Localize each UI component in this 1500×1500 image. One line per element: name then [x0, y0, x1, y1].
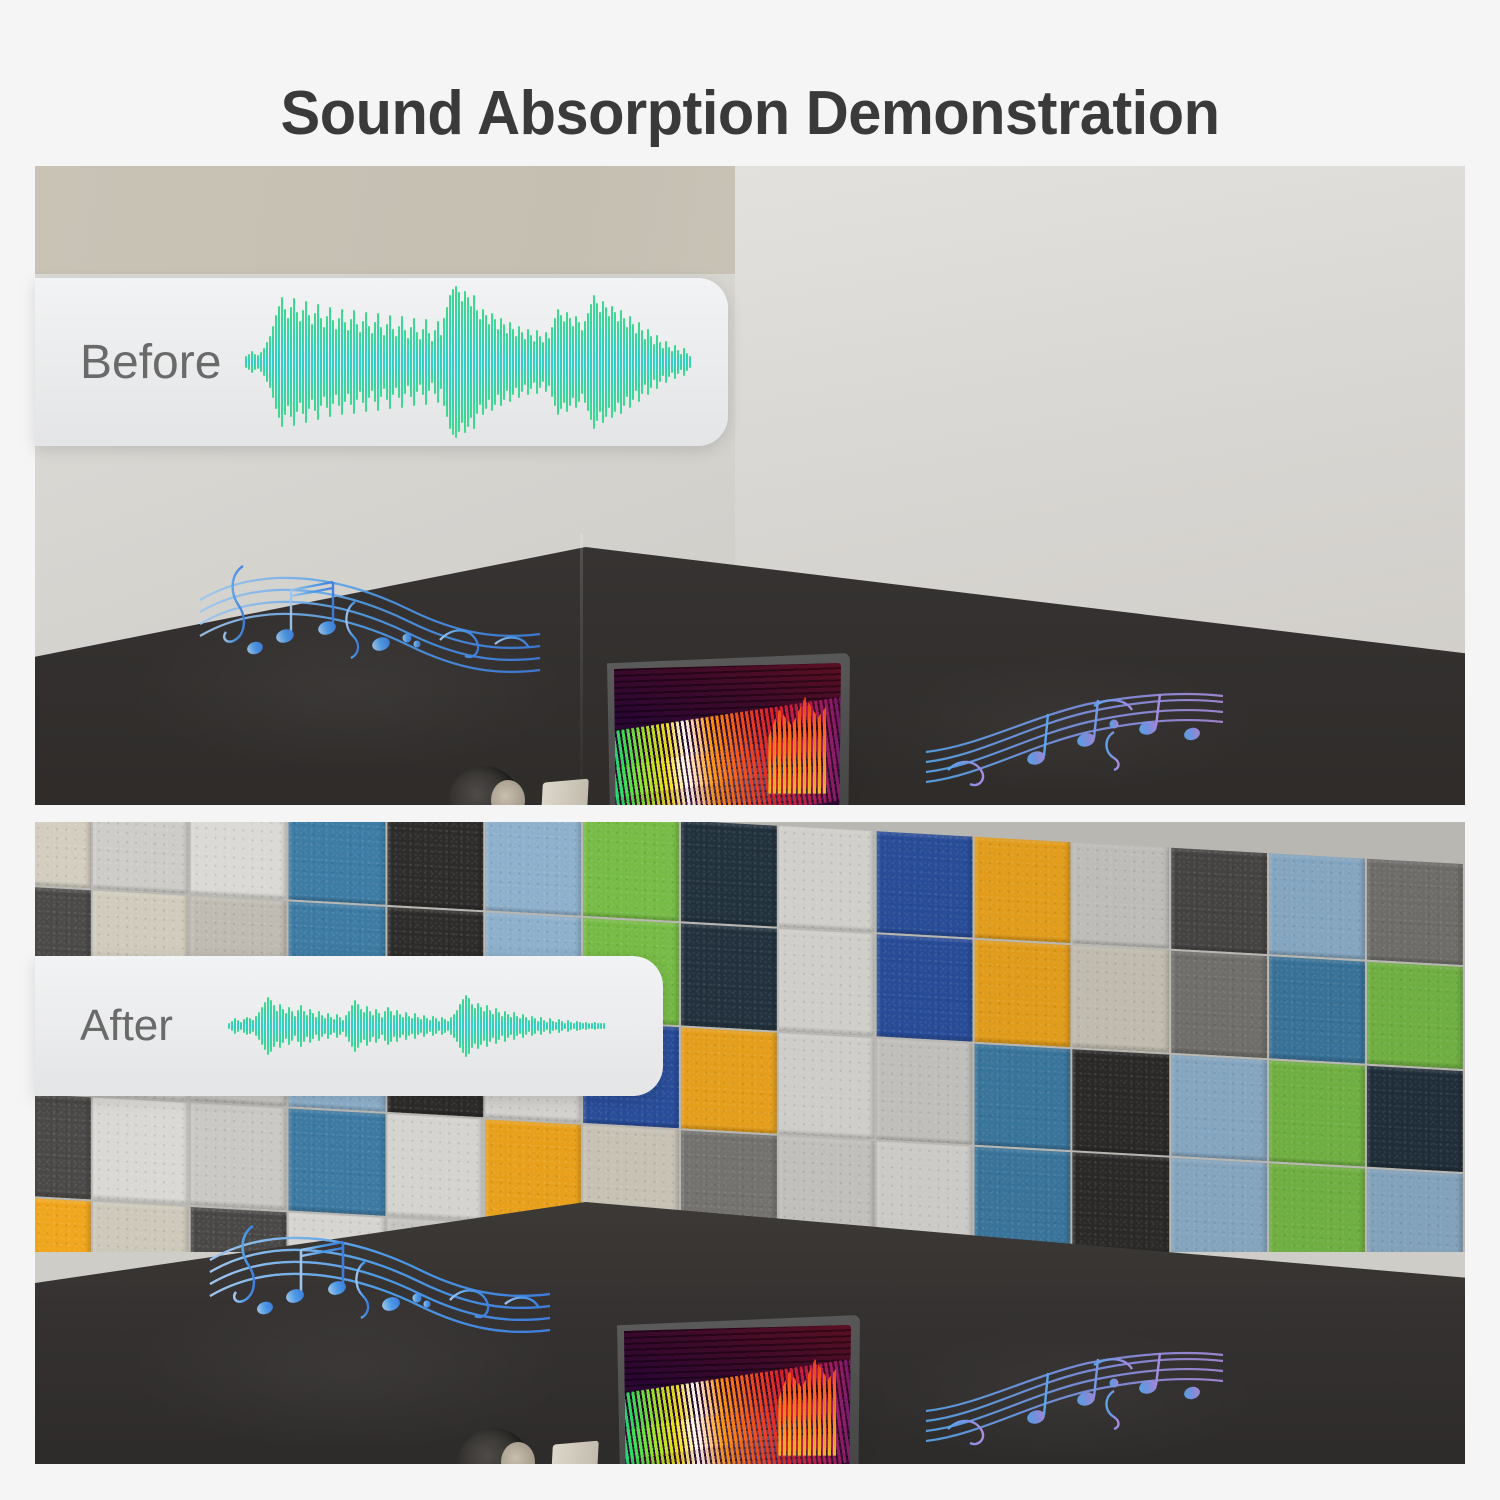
waveform-bar [507, 1014, 509, 1038]
waveform-bar [548, 338, 550, 387]
waveform-bar [482, 309, 484, 415]
waveform-bar [600, 1023, 602, 1028]
waveform-bar [413, 318, 415, 406]
waveform-bar [354, 1000, 356, 1052]
waveform-bar [456, 1010, 458, 1043]
waveform-bar [404, 330, 406, 394]
waveform-bar [324, 1018, 326, 1034]
waveform-bar [593, 295, 595, 429]
waveform-bar [254, 354, 256, 371]
waveform-bar [369, 1011, 371, 1042]
waveform-bar [588, 1023, 590, 1030]
waveform-bar [542, 342, 544, 382]
acoustic-panel-tile [93, 822, 189, 894]
waveform-bar [317, 304, 319, 420]
acoustic-panel-tile [681, 822, 777, 927]
waveform-bar [465, 995, 467, 1057]
waveform-bar [258, 1012, 260, 1040]
waveform-bar [267, 997, 269, 1056]
waveform-bar [686, 353, 688, 371]
waveform-bar [492, 1014, 494, 1038]
waveform-bar [500, 318, 502, 406]
waveform-bar [246, 1017, 248, 1036]
waveform-bar [491, 313, 493, 410]
acoustic-panel-tile [289, 822, 385, 905]
acoustic-panel-tile [1367, 1169, 1463, 1252]
waveform-bar [249, 1018, 251, 1034]
waveform-bar [614, 312, 616, 412]
waveform-bar [291, 1011, 293, 1040]
waveform-bar [596, 303, 598, 422]
waveform-bar [372, 1015, 374, 1037]
waveform-bar [659, 342, 661, 382]
waveform-bar [375, 1009, 377, 1043]
waveform-bar [560, 315, 562, 409]
waveform-bar [662, 348, 664, 375]
waveform-bar [410, 327, 412, 397]
waveform-bar [635, 333, 637, 391]
waveform-bar [459, 1004, 461, 1047]
waveform-bar [477, 1003, 479, 1050]
waveform-bar [384, 1011, 386, 1040]
waveform-bar [359, 332, 361, 393]
waveform-bar [461, 301, 463, 423]
waveform-bar [234, 1018, 236, 1034]
waveform-bar [293, 298, 295, 426]
waveform-bar [306, 1015, 308, 1037]
acoustic-panel-tile [779, 929, 875, 1036]
waveform-bar [312, 1013, 314, 1039]
waveform-bar [305, 301, 307, 423]
waveform-bar [582, 1023, 584, 1030]
waveform-bar [470, 306, 472, 418]
waveform-bar [311, 324, 313, 400]
waveform-bar [549, 1018, 551, 1034]
waveform-bar [597, 1023, 599, 1030]
waveform-bar [620, 310, 622, 413]
waveform-bar [281, 297, 283, 428]
waveform-bar [638, 322, 640, 401]
waveform-bar [467, 297, 469, 428]
waveform-bar [338, 318, 340, 406]
waveform-bar [273, 1005, 275, 1046]
waveform-bar [443, 318, 445, 406]
waveform-bar [504, 1011, 506, 1042]
monitor-screen [614, 663, 841, 805]
waveform-bar [252, 1020, 254, 1032]
waveform-bar [474, 1008, 476, 1044]
waveform-bar [510, 1017, 512, 1034]
waveform-bar [450, 1017, 452, 1034]
waveform-bar [581, 330, 583, 394]
waveform-bar [423, 1015, 425, 1037]
waveform-bar [285, 1013, 287, 1039]
waveform-bar [539, 336, 541, 388]
waveform-bar [408, 1016, 410, 1037]
acoustic-panel-tile [191, 1103, 287, 1210]
waveform-bar [587, 313, 589, 410]
waveform-bar [458, 292, 460, 432]
waveform-bar [519, 1018, 521, 1034]
waveform-bar [617, 321, 619, 403]
waveform-bar [564, 1023, 566, 1030]
curved-monitor: BenQ [607, 653, 850, 805]
waveform-bar [641, 330, 643, 394]
waveform-bar [248, 354, 250, 369]
waveform-bar [353, 310, 355, 413]
waveform-bar [569, 318, 571, 406]
waveform-bar [237, 1020, 239, 1032]
waveform-bar [435, 1018, 437, 1034]
waveform-bar [363, 1012, 365, 1040]
waveform-bar [269, 336, 271, 388]
waveform-bar [594, 1022, 596, 1031]
waveform-bar [263, 348, 265, 375]
waveform-bar [653, 344, 655, 380]
acoustic-panel-tile [1269, 1163, 1365, 1252]
waveform-bar [348, 1011, 350, 1042]
waveform-bar [543, 1020, 545, 1032]
waveform-bar [327, 1013, 329, 1039]
waveform-bar [449, 295, 451, 429]
waveform-bar [473, 295, 475, 429]
acoustic-panel-tile [975, 1044, 1071, 1151]
acoustic-panel-tile [1171, 1158, 1267, 1252]
waveform-bar [557, 309, 559, 415]
waveform-bar [266, 342, 268, 382]
waveform-bar [381, 1017, 383, 1036]
acoustic-panel-tile [975, 837, 1071, 944]
waveform-bar [488, 324, 490, 400]
waveform-bar [330, 1017, 332, 1036]
acoustic-panel-tile [877, 831, 973, 938]
waveform-bar [480, 1007, 482, 1045]
waveform-bar [284, 309, 286, 415]
waveform-bar [300, 1005, 302, 1046]
waveform-bar [429, 1020, 431, 1032]
waveform-bar [398, 326, 400, 399]
waveform-bar [345, 1015, 347, 1037]
acoustic-panel-tile [681, 924, 777, 1031]
curved-monitor: BenQ [617, 1315, 860, 1464]
waveform-bar [278, 306, 280, 418]
waveform-bar [570, 1022, 572, 1031]
waveform-bar [611, 306, 613, 418]
waveform-bar [501, 1016, 503, 1037]
waveform-bar [585, 1022, 587, 1031]
waveform-bar [536, 330, 538, 394]
waveform-bar [573, 1023, 575, 1030]
waveform-bar [431, 341, 433, 384]
waveform-bar [530, 335, 532, 390]
waveform-bar [357, 1004, 359, 1049]
waveform-bar [503, 324, 505, 400]
acoustic-panel-tile [289, 1109, 385, 1216]
waveform-bar [468, 998, 470, 1053]
waveform-bar [437, 321, 439, 403]
waveform-bar [321, 1015, 323, 1037]
waveform-bar [261, 1007, 263, 1045]
waveform-bar [527, 329, 529, 396]
waveform-bar [335, 329, 337, 396]
waveform-bar [387, 1007, 389, 1045]
waveform-bar [366, 1006, 368, 1046]
waveform-bar [296, 312, 298, 412]
waveform-bar [623, 318, 625, 406]
waveform-bar [231, 1021, 233, 1031]
waveform-bar [287, 318, 289, 406]
waveform-bar [411, 1018, 413, 1034]
waveform-bar [579, 1022, 581, 1031]
waveform-bar [513, 1012, 515, 1040]
waveform-bar [677, 350, 679, 374]
acoustic-panel-tile [583, 822, 679, 922]
waveform-bar [255, 1016, 257, 1037]
waveform-bar [591, 1023, 593, 1028]
waveform-bar [479, 319, 481, 404]
acoustic-panel-tile [1367, 859, 1463, 966]
waveform-bar [386, 324, 388, 400]
waveform-bar [521, 332, 523, 393]
acoustic-panel-tile [387, 822, 483, 911]
waveform-bar [608, 316, 610, 407]
acoustic-panel-tile [1073, 842, 1169, 949]
waveform-bar [561, 1021, 563, 1031]
waveform-bar [368, 326, 370, 399]
waveform-bar [432, 1016, 434, 1037]
waveform-bar [339, 1017, 341, 1034]
waveform-bar [494, 319, 496, 404]
waveform-bar [393, 1015, 395, 1037]
waveform-bar [260, 352, 262, 372]
waveform-bar [428, 333, 430, 391]
acoustic-panel-tile [93, 1098, 189, 1205]
acoustic-panel-tile [1073, 1152, 1169, 1252]
waveform-bar [665, 341, 667, 384]
waveform-bar [401, 316, 403, 407]
waveform-bar [396, 1010, 398, 1043]
waveform-bar [438, 1021, 440, 1031]
waveform-bar [554, 318, 556, 406]
waveform-bar [347, 330, 349, 394]
monitor-screen [624, 1325, 851, 1464]
before-label: Before [80, 335, 221, 390]
waveform-bar [297, 1010, 299, 1043]
waveform-bar [416, 332, 418, 393]
waveform-bar [578, 322, 580, 401]
wall-corner-highlight [580, 534, 583, 805]
waveform-bar [462, 999, 464, 1052]
waveform-bar [525, 1017, 527, 1034]
waveform-bar [425, 319, 427, 404]
before-scene-panel: BenQ [35, 166, 1465, 805]
acoustic-panel-tile [1073, 946, 1169, 1053]
waveform-bar [576, 1021, 578, 1031]
after-label: After [80, 1001, 173, 1051]
waveform-bar [365, 312, 367, 412]
acoustic-panel-tile [35, 1196, 91, 1252]
waveform-bar [509, 322, 511, 401]
waveform-bar [441, 1017, 443, 1036]
waveform-bar [240, 1022, 242, 1031]
acoustic-panel-tile [93, 1201, 189, 1252]
waveform-bar [407, 338, 409, 387]
waveform-bar [378, 1013, 380, 1039]
page-title: Sound Absorption Demonstration [30, 78, 1470, 149]
waveform-bar [647, 329, 649, 396]
waveform-bar [434, 330, 436, 394]
acoustic-panel-tile [191, 822, 287, 900]
acoustic-panel-tile [1367, 962, 1463, 1069]
waveform-bar [371, 333, 373, 391]
waveform-bar [567, 1020, 569, 1032]
waveform-bar [471, 1004, 473, 1049]
laptop [547, 1441, 599, 1464]
waveform-bar [656, 335, 658, 390]
after-label-card: After [35, 956, 663, 1096]
waveform-bar [552, 1021, 554, 1031]
waveform-bar [528, 1020, 530, 1032]
waveform-bar [629, 316, 631, 407]
waveform-bar [551, 327, 553, 397]
waveform-bar [314, 313, 316, 410]
acoustic-panel-tile [485, 822, 581, 916]
waveform-bar [680, 354, 682, 369]
waveform-bar [444, 1019, 446, 1033]
waveform-bar [315, 1017, 317, 1036]
waveform-bar [294, 1016, 296, 1037]
waveform-bar [419, 339, 421, 385]
waveform-bar [497, 329, 499, 396]
waveform-bar [264, 1002, 266, 1050]
waveform-bar [342, 1020, 344, 1032]
acoustic-panel-tile [1171, 1055, 1267, 1162]
waveform-bar [545, 332, 547, 393]
acoustic-panel-tile [1367, 1066, 1463, 1173]
waveform-bar [650, 336, 652, 388]
waveform-bar [452, 289, 454, 435]
waveform-bar [389, 315, 391, 409]
acoustic-panel-tile [1073, 1049, 1169, 1156]
acoustic-panel-tile [35, 1092, 91, 1199]
after-scene-panel: BenQ [35, 822, 1465, 1464]
waveform-bar [603, 1023, 605, 1030]
waveform-bar [399, 1014, 401, 1038]
before-label-card: Before [35, 278, 728, 446]
waveform-bar [303, 1011, 305, 1042]
waveform-bar [599, 312, 601, 412]
waveform-bar [276, 1011, 278, 1042]
waveform-bar [590, 304, 592, 420]
acoustic-panel-tile [387, 1114, 483, 1221]
waveform-bar [290, 307, 292, 416]
waveform-bar [251, 351, 253, 372]
waveform-bar [282, 1009, 284, 1043]
waveform-bar [302, 310, 304, 413]
acoustic-panel-tile [1269, 1060, 1365, 1167]
waveform-bar [566, 312, 568, 412]
waveform-bar [668, 347, 670, 377]
waveform-bar [671, 351, 673, 372]
waveform-bar [275, 315, 277, 409]
waveform-bar [534, 1018, 536, 1034]
waveform-bar [350, 319, 352, 404]
acoustic-panel-tile [1171, 951, 1267, 1058]
waveform-bar [498, 1012, 500, 1040]
waveform-bar [483, 1011, 485, 1040]
waveform-bar [495, 1008, 497, 1044]
waveform-bar [489, 1010, 491, 1043]
waveform-bar [546, 1022, 548, 1031]
laptop [537, 779, 589, 805]
waveform-bar [447, 1021, 449, 1031]
waveform-bar [422, 329, 424, 396]
waveform-bar [299, 321, 301, 403]
waveform-bar [395, 336, 397, 388]
waveform-bar [377, 313, 379, 410]
waveform-bar [414, 1013, 416, 1039]
waveform-bar [417, 1017, 419, 1036]
waveform-bar [605, 307, 607, 416]
acoustic-panel-tile [1171, 848, 1267, 955]
acoustic-panel-tile [681, 1027, 777, 1134]
waveform-bar [288, 1007, 290, 1045]
waveform-bar [524, 339, 526, 385]
waveform-bar [344, 322, 346, 401]
acoustic-panel-tile [975, 1147, 1071, 1252]
waveform-bar [329, 307, 331, 416]
waveform-bar [279, 1004, 281, 1049]
waveform-bar [245, 356, 247, 368]
waveform-bar [522, 1014, 524, 1038]
waveform-bar [512, 329, 514, 396]
waveform-bar [644, 339, 646, 385]
waveform-bar [689, 356, 691, 368]
waveform-bar [392, 329, 394, 396]
waveform-bar [632, 324, 634, 400]
waveform-bar [531, 1016, 533, 1037]
waveform-bar [326, 316, 328, 407]
waveform-bar [320, 318, 322, 406]
waveform-bar [383, 335, 385, 390]
waveform-bar [228, 1023, 230, 1030]
waveform-bar [563, 321, 565, 403]
acoustic-panel-tile [877, 1038, 973, 1145]
waveform-bar [486, 1005, 488, 1046]
waveform-bar [558, 1019, 560, 1033]
waveform-bar [518, 326, 520, 399]
waveform-bar [272, 326, 274, 399]
waveform-bar [515, 336, 517, 388]
waveform-bar [455, 286, 457, 438]
waveform-bar [405, 1012, 407, 1040]
waveform-bar [572, 326, 574, 399]
waveform-bar [602, 301, 604, 423]
acoustic-panel-tile [191, 1207, 287, 1252]
acoustic-panel-tile [975, 940, 1071, 1047]
acoustic-panel-tile [877, 935, 973, 1042]
waveform-bar [540, 1017, 542, 1034]
waveform-bar [464, 291, 466, 434]
panel-divider-gap [0, 805, 1500, 822]
waveform-bar [402, 1017, 404, 1034]
waveform-bar [575, 316, 577, 407]
waveform-bar [270, 1000, 272, 1052]
waveform-bar [420, 1019, 422, 1033]
acoustic-panel-tile [779, 826, 875, 933]
waveform-bar [537, 1021, 539, 1031]
waveform-bar [516, 1016, 518, 1037]
